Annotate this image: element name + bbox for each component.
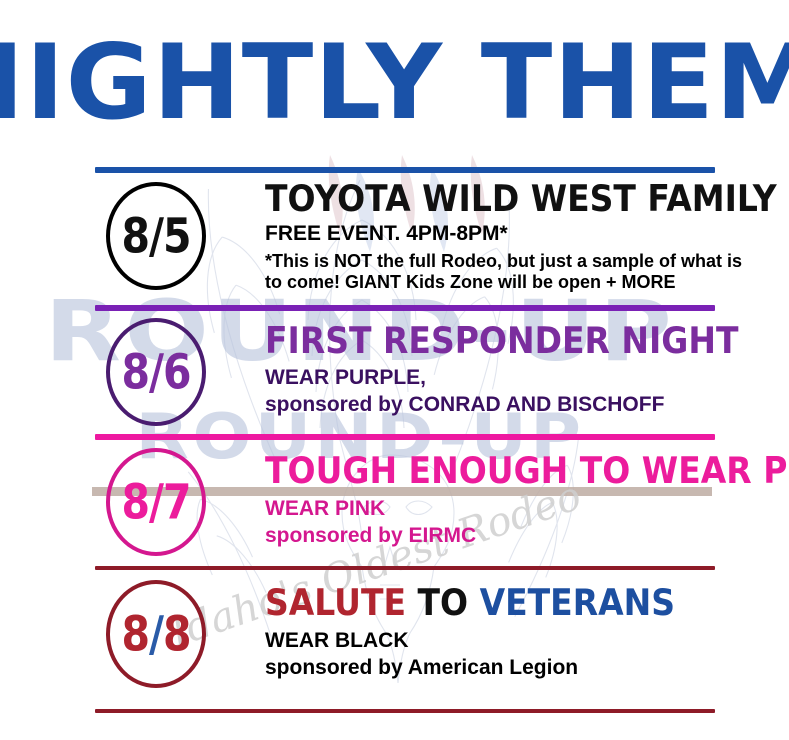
date-badge-8-6: 8/6 xyxy=(106,318,206,426)
theme-sponsor: sponsored by American Legion xyxy=(265,656,785,680)
theme-note: *This is NOT the full Rodeo, but just a … xyxy=(265,251,785,293)
theme-content-8-7: TOUGH ENOUGH TO WEAR PINK WEAR PINK spon… xyxy=(265,446,785,547)
theme-note-line-2: to come! GIANT Kids Zone will be open + … xyxy=(265,272,785,293)
page-title: NIGHTLY THEMES xyxy=(0,32,789,135)
theme-row-8-6: 8/6 FIRST RESPONDER NIGHT WEAR PURPLE, s… xyxy=(95,316,755,428)
theme-row-8-8: 8/8 SALUTE TO VETERANS WEAR BLACK sponso… xyxy=(95,578,755,693)
theme-heading: TOUGH ENOUGH TO WEAR PINK xyxy=(265,452,785,488)
nightly-themes-poster: ROUND-UP ROUND-UP Idaho's Oldest Rodeo N… xyxy=(0,0,789,740)
theme-sponsor: sponsored by CONRAD AND BISCHOFF xyxy=(265,393,785,417)
heading-salute: SALUTE xyxy=(265,581,418,624)
theme-subtitle: WEAR PINK xyxy=(265,497,785,521)
theme-note-line-1: *This is NOT the full Rodeo, but just a … xyxy=(265,251,785,272)
date-badge-label: 8/6 xyxy=(121,348,190,396)
date-badge-8-7: 8/7 xyxy=(106,448,206,556)
heading-veterans: VETERANS xyxy=(480,581,675,624)
date-badge-8-5: 8/5 xyxy=(106,182,206,290)
theme-heading: TOYOTA WILD WEST FAMILY FEST xyxy=(265,180,785,216)
theme-heading: SALUTE TO VETERANS xyxy=(265,584,785,620)
theme-row-8-7: 8/7 TOUGH ENOUGH TO WEAR PINK WEAR PINK … xyxy=(95,446,755,558)
date-badge-label: 8/7 xyxy=(121,478,190,526)
date-badge-label: 8/8 xyxy=(121,610,190,658)
theme-sponsor: sponsored by EIRMC xyxy=(265,524,785,548)
theme-heading: FIRST RESPONDER NIGHT xyxy=(265,322,785,358)
theme-content-8-8: SALUTE TO VETERANS WEAR BLACK sponsored … xyxy=(265,578,785,679)
theme-subtitle: FREE EVENT. 4PM-8PM* xyxy=(265,222,785,246)
divider-red-bottom xyxy=(95,709,715,713)
theme-content-8-5: TOYOTA WILD WEST FAMILY FEST FREE EVENT.… xyxy=(265,178,785,293)
divider-pink xyxy=(95,434,715,440)
date-badge-label: 8/5 xyxy=(121,212,190,260)
divider-red-upper xyxy=(95,566,715,570)
heading-to: TO xyxy=(418,581,480,624)
theme-content-8-6: FIRST RESPONDER NIGHT WEAR PURPLE, spons… xyxy=(265,316,785,416)
divider-purple xyxy=(95,305,715,311)
theme-subtitle: WEAR PURPLE, xyxy=(265,366,785,390)
theme-row-8-5: 8/5 TOYOTA WILD WEST FAMILY FEST FREE EV… xyxy=(95,178,755,298)
divider-top-blue xyxy=(95,167,715,173)
date-badge-8-8: 8/8 xyxy=(106,580,206,688)
theme-subtitle: WEAR BLACK xyxy=(265,629,785,653)
poster-title-container: NIGHTLY THEMES xyxy=(0,32,789,124)
